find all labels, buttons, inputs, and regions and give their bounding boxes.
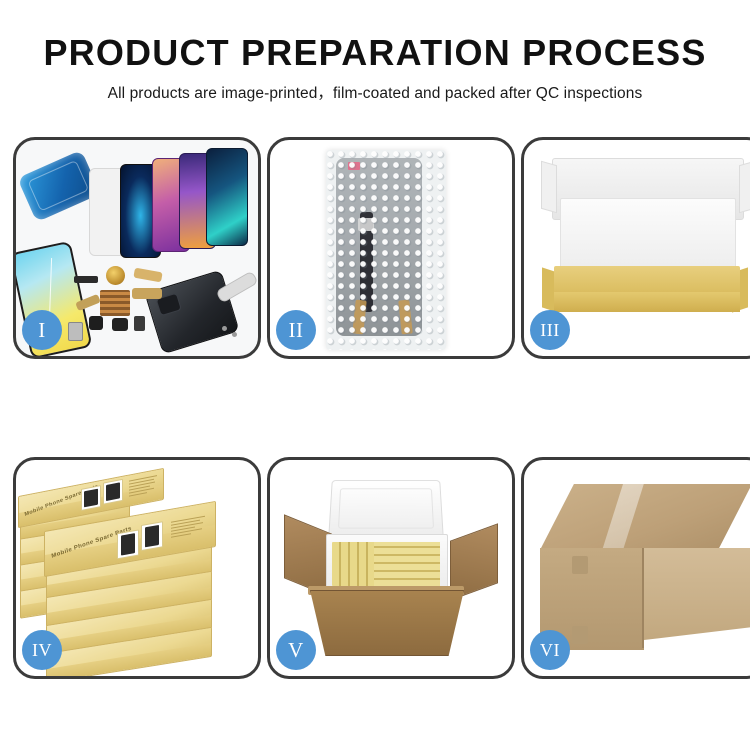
screw-image (222, 326, 227, 331)
coil-component-image (106, 266, 125, 285)
foam-lid-image (328, 480, 444, 540)
packed-yellow-boxes-image (374, 542, 440, 586)
sim-tray-image (68, 322, 83, 341)
carton-tab-image (572, 556, 588, 574)
process-step-3: III (521, 137, 750, 365)
page-title: PRODUCT PREPARATION PROCESS (0, 34, 750, 72)
carton-top-image (540, 484, 750, 550)
white-foam-sheet-image (560, 198, 736, 272)
step-badge-6: VI (530, 630, 570, 670)
process-step-grid: I II (13, 137, 737, 737)
flex-cable-image (132, 288, 162, 299)
mesh-grid-component-image (100, 290, 130, 316)
button-component-image (134, 316, 145, 331)
step-panel: II (267, 137, 515, 359)
carton-tab-image (572, 626, 588, 644)
product-preparation-infographic: PRODUCT PREPARATION PROCESS All products… (0, 0, 750, 750)
process-step-6: VI (521, 365, 750, 593)
bubble-wrap-bag-image (326, 150, 446, 350)
camera-module-image (89, 316, 103, 330)
carton-right-face-image (644, 548, 750, 640)
carton-seam-image (642, 548, 644, 648)
process-step-1: I (13, 137, 267, 365)
process-step-2: II (267, 137, 521, 365)
connector-bar-image (74, 276, 98, 283)
yellow-box-face-image (554, 292, 740, 312)
phone-back-housing-image (144, 270, 239, 355)
page-subtitle: All products are image-printed，film-coat… (0, 81, 750, 103)
header: PRODUCT PREPARATION PROCESS All products… (0, 0, 750, 103)
teal-wave-phone-image (206, 148, 248, 246)
step-panel: VI (521, 457, 750, 679)
step-panel: V (267, 457, 515, 679)
speaker-module-image (112, 318, 128, 331)
bubble-texture-overlay (326, 150, 446, 350)
step-panel: Mobile Phone Spare Parts (13, 457, 261, 679)
step-badge-5: V (276, 630, 316, 670)
process-step-4: Mobile Phone Spare Parts (13, 365, 267, 593)
step-badge-2: II (276, 310, 316, 350)
step-badge-1: I (22, 310, 62, 350)
screw-image (232, 332, 237, 337)
step-panel: I (13, 137, 261, 359)
process-step-5: V (267, 365, 521, 593)
carton-body-image (310, 590, 464, 656)
step-badge-4: IV (22, 630, 62, 670)
flex-cable-image (133, 268, 162, 283)
step-badge-3: III (530, 310, 570, 350)
step-panel: III (521, 137, 750, 359)
